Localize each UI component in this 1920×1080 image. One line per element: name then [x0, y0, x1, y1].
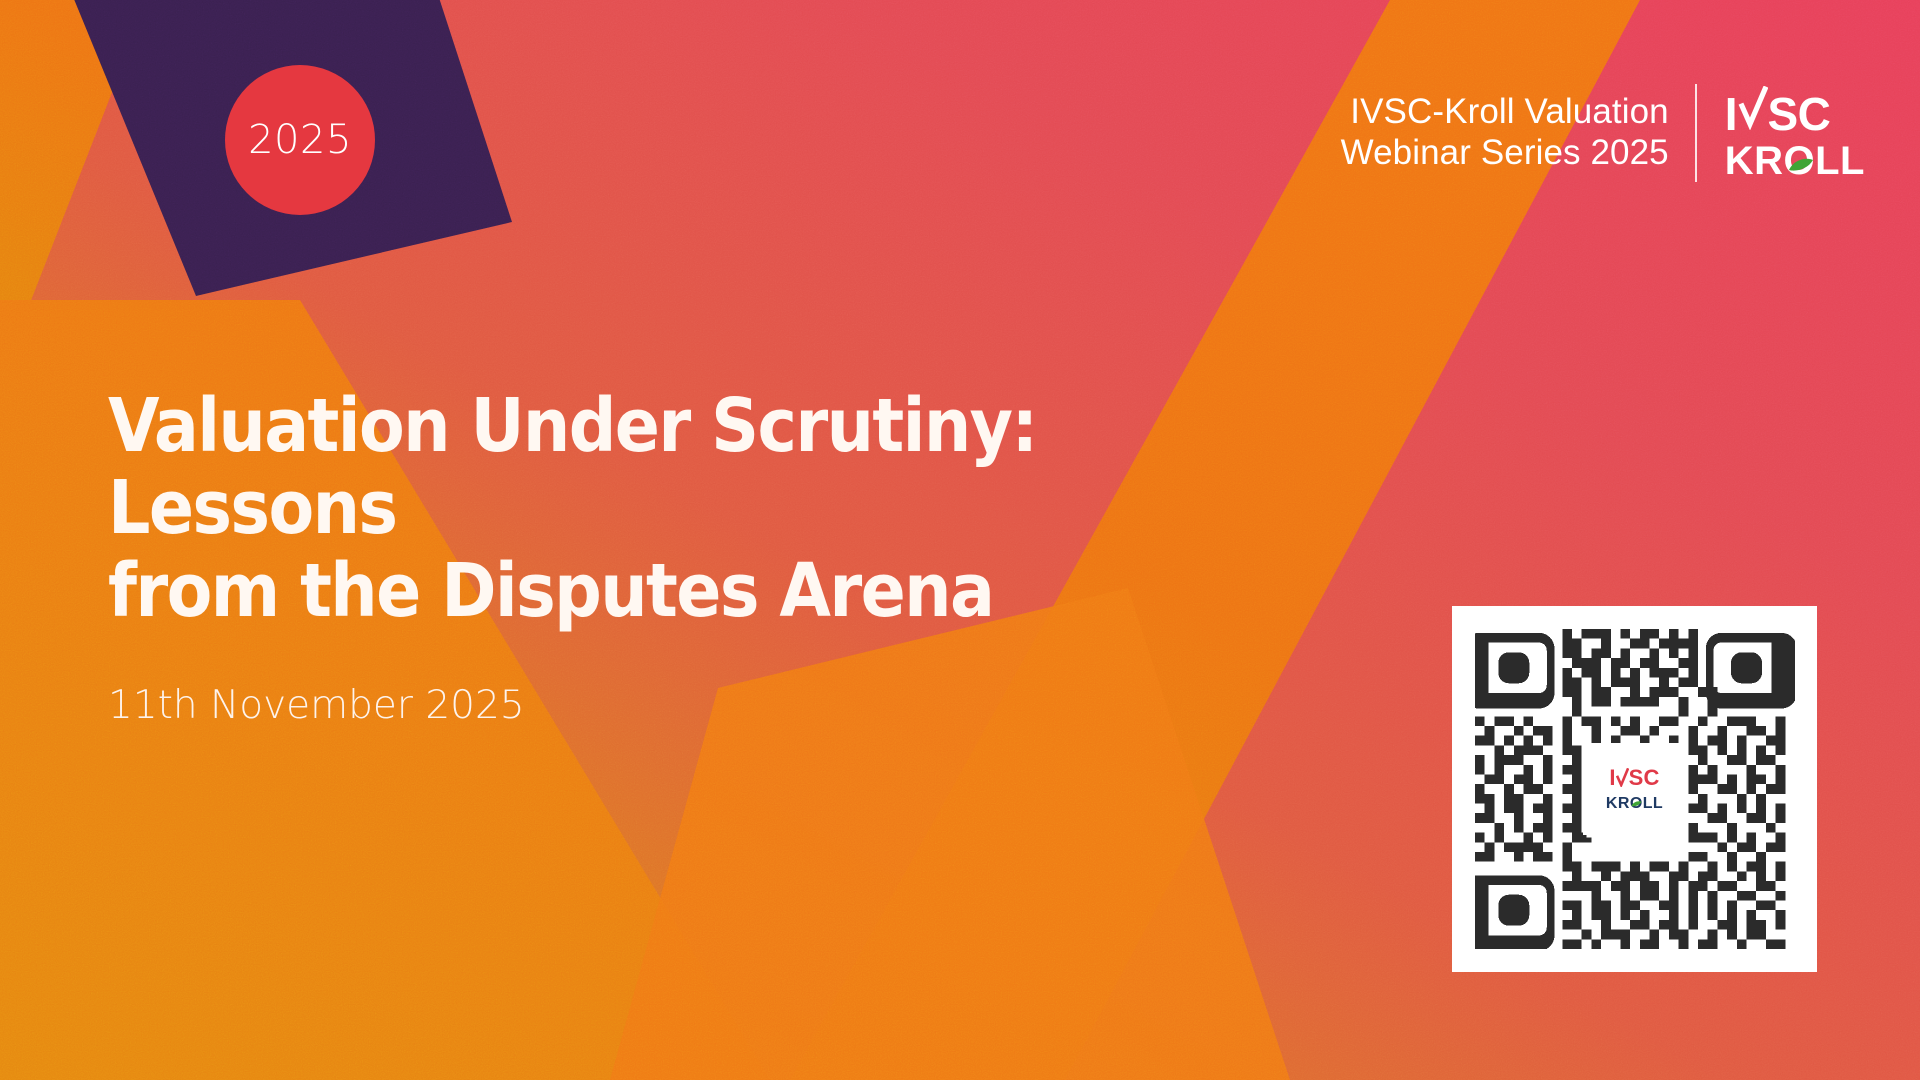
event-title: Valuation Under Scrutiny: Lessons from t…	[108, 385, 1268, 634]
kroll-letters-kr: KR	[1725, 141, 1784, 181]
ivsc-letter-i: I	[1725, 91, 1738, 137]
event-date: 11th November 2025	[108, 683, 1268, 728]
kroll-letters-ll: LL	[1815, 141, 1865, 181]
qr-kroll-letter-o: O	[1630, 795, 1643, 812]
kroll-letter-o: O	[1784, 139, 1816, 183]
qr-code-image[interactable]: I SC KR O	[1475, 629, 1795, 949]
kroll-wordmark: KR O LL	[1725, 141, 1865, 181]
ivsc-letters-sc: SC	[1768, 91, 1831, 137]
year-badge-label: 2025	[248, 117, 352, 163]
year-badge: 2025	[225, 65, 375, 215]
headline-block: Valuation Under Scrutiny: Lessons from t…	[108, 335, 1268, 728]
qr-ivsc-wordmark: I SC	[1609, 766, 1659, 789]
qr-ivsc-letters-sc: SC	[1629, 767, 1660, 789]
qr-code-card[interactable]: I SC KR O	[1452, 606, 1817, 972]
qr-kroll-letters-ll: LL	[1643, 796, 1663, 812]
event-banner: 2025 IVSC-Kroll Valuation Webinar Series…	[0, 0, 1920, 1080]
webinar-series-title: IVSC-Kroll Valuation Webinar Series 2025	[1341, 92, 1695, 173]
qr-kroll-letters-kr: KR	[1606, 796, 1630, 812]
ivsc-wordmark: I SC	[1725, 86, 1831, 137]
check-mark-icon	[1738, 86, 1768, 126]
qr-center-logo: I SC KR O	[1583, 743, 1687, 835]
ivsc-kroll-logo: I SC KR O	[1697, 86, 1865, 181]
qr-kroll-wordmark: KR O LL	[1606, 796, 1663, 812]
qr-check-mark-icon	[1616, 768, 1629, 787]
brand-lockup: IVSC-Kroll Valuation Webinar Series 2025…	[1255, 78, 1865, 188]
